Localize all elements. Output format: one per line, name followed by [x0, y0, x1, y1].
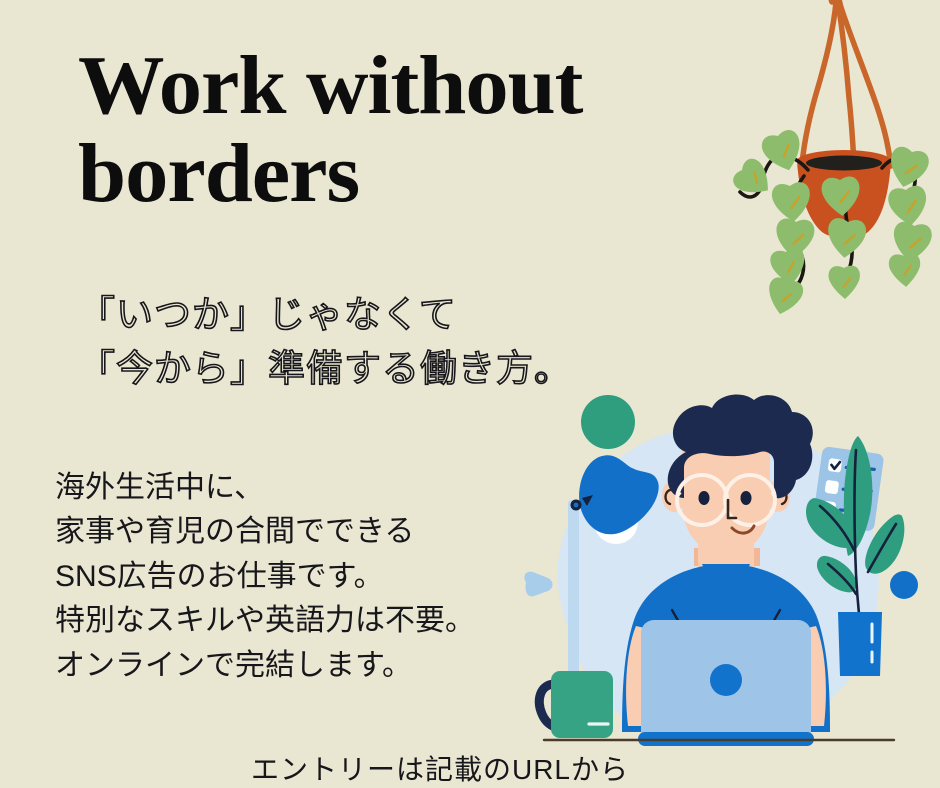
subtitle-outlined: 「いつか」じゃなくて 「今から」準備する働き方。 — [78, 288, 572, 395]
person-working-on-laptop-illustration — [498, 388, 940, 788]
laptop — [638, 620, 814, 746]
eye-left — [699, 491, 710, 505]
laptop-logo — [710, 664, 742, 696]
poster-canvas: Work without borders 「いつか」じゃなくて 「今から」準備す… — [0, 0, 940, 788]
accent-green-circle — [581, 395, 635, 449]
hanging-plant-illustration — [716, 0, 940, 314]
eye-right — [741, 491, 752, 505]
accent-blue-circle — [890, 571, 918, 599]
page-title: Work without borders — [78, 42, 737, 218]
body-copy: 海外生活中に、 家事や育児の合間でできる SNS広告のお仕事です。 特別なスキル… — [55, 466, 475, 688]
coffee-mug-icon — [539, 671, 613, 738]
plant-hanger-rope — [802, 0, 891, 166]
accent-triangle-icon — [524, 572, 552, 597]
